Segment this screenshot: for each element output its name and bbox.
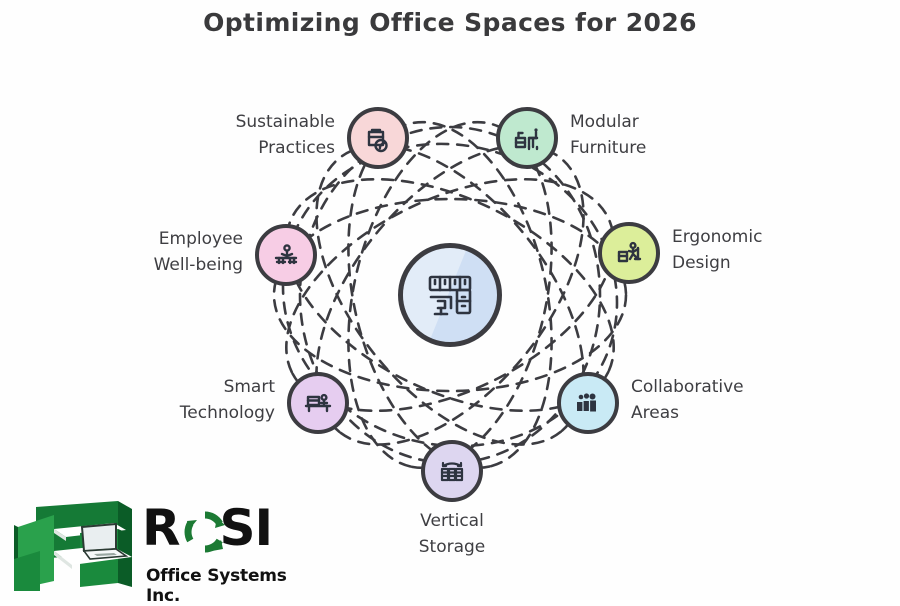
node-modular-furniture[interactable]: Modular Furniture <box>496 107 558 169</box>
vertical-storage-label: Vertical Storage <box>337 508 567 561</box>
sustainable-practices-label: Sustainable Practices <box>105 109 335 162</box>
smart-technology-label: Smart Technology <box>45 374 275 427</box>
ergonomic-design-disc <box>598 222 660 284</box>
infographic-canvas: Optimizing Office Spaces for 2026 <box>0 0 900 600</box>
sustainable-practices-disc <box>347 107 409 169</box>
monitor-desk-tech-icon <box>300 385 336 421</box>
node-ergonomic-design[interactable]: Ergonomic Design <box>598 222 660 284</box>
employee-well-being-disc <box>255 224 317 286</box>
person-at-desk-wellbeing-icon <box>268 237 304 273</box>
green-cubicle-workstation-icon <box>14 499 138 591</box>
cabinet-leaf-shield-icon <box>360 120 396 156</box>
node-sustainable-practices[interactable]: Sustainable Practices <box>347 107 409 169</box>
node-smart-technology[interactable]: Smart Technology <box>287 372 349 434</box>
node-collaborative-areas[interactable]: Collaborative Areas <box>557 372 619 434</box>
node-vertical-storage[interactable]: Vertical Storage <box>421 440 483 502</box>
shelving-units-arrows-icon <box>434 453 470 489</box>
smart-technology-disc <box>287 372 349 434</box>
office-cubicle-layout-icon <box>419 264 481 326</box>
rosi-logo[interactable]: RSI Office Systems Inc. <box>14 497 314 595</box>
page-title: Optimizing Office Spaces for 2026 <box>0 8 900 37</box>
people-group-icon <box>570 385 606 421</box>
node-employee-well-being[interactable]: Employee Well-being <box>255 224 317 286</box>
modular-furniture-disc <box>496 107 558 169</box>
ergonomic-chair-person-icon <box>611 235 647 271</box>
rosi-wordmark-r: R <box>142 499 180 557</box>
desk-chair-modular-icon <box>509 120 545 156</box>
ergonomic-design-label: Ergonomic Design <box>672 224 900 277</box>
recycle-ring-icon <box>182 509 228 555</box>
rosi-logo-subtitle: Office Systems Inc. <box>146 566 314 606</box>
vertical-storage-disc <box>421 440 483 502</box>
center-hub[interactable] <box>398 243 502 347</box>
collaborative-areas-disc <box>557 372 619 434</box>
modular-furniture-label: Modular Furniture <box>570 109 800 162</box>
center-hub-disc <box>398 243 502 347</box>
collaborative-areas-label: Collaborative Areas <box>631 374 861 427</box>
employee-well-being-label: Employee Well-being <box>13 226 243 279</box>
